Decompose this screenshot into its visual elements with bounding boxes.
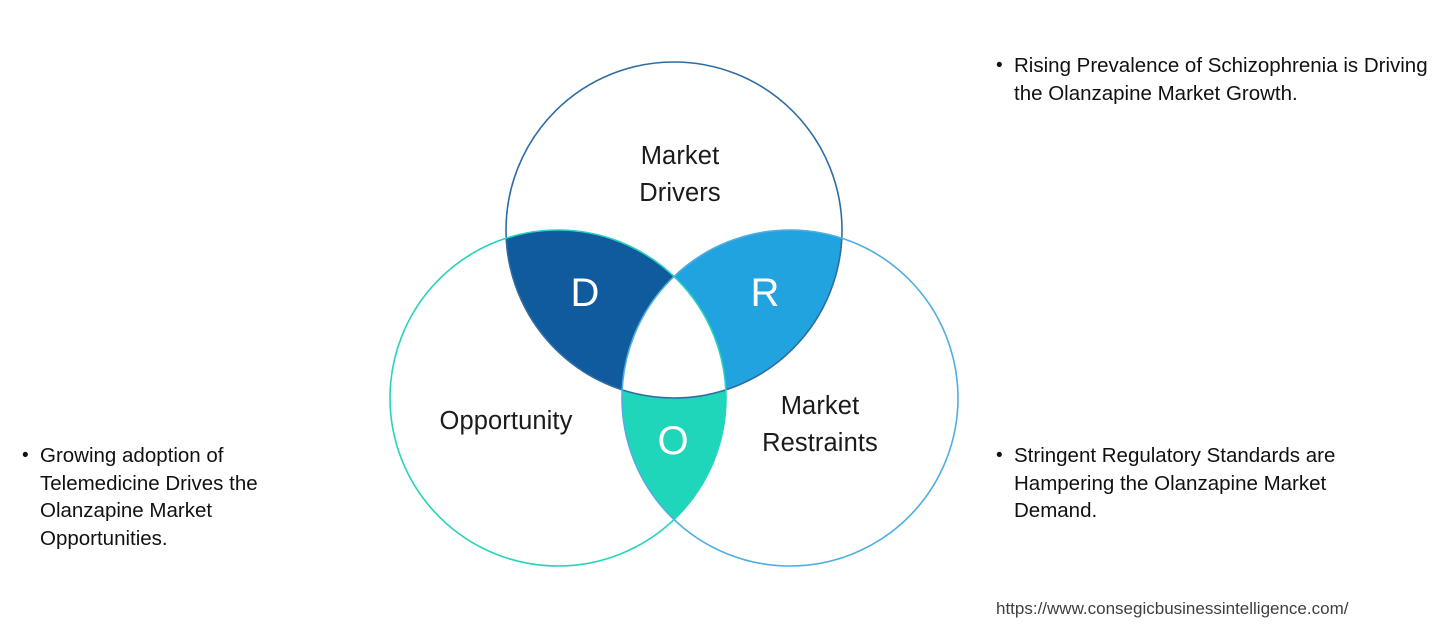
venn-svg (370, 40, 980, 600)
callout-market-drivers: • Rising Prevalence of Schizophrenia is … (996, 52, 1436, 107)
callout-market-restraints: • Stringent Regulatory Standards are Ham… (996, 442, 1406, 525)
source-url[interactable]: https://www.consegicbusinessintelligence… (996, 598, 1436, 620)
bullet-icon: • (996, 442, 1014, 470)
venn-lens-letter-d: D (545, 273, 625, 313)
callout-text: Rising Prevalence of Schizophrenia is Dr… (1014, 52, 1436, 107)
bullet-icon: • (996, 52, 1014, 80)
venn-lens-letter-o: O (633, 421, 713, 461)
callout-text: Stringent Regulatory Standards are Hampe… (1014, 442, 1406, 525)
venn-label-market-restraints: Market Restraints (700, 388, 940, 462)
callout-opportunity: • Growing adoption of Telemedicine Drive… (22, 442, 322, 552)
dro-venn-diagram (370, 40, 980, 600)
venn-label-market-drivers: Market Drivers (560, 138, 800, 212)
callout-text: Growing adoption of Telemedicine Drives … (40, 442, 322, 552)
slide-canvas: Market Drivers Opportunity Market Restra… (0, 0, 1453, 643)
venn-lens-letter-r: R (725, 273, 805, 313)
venn-label-opportunity: Opportunity (396, 403, 616, 440)
bullet-icon: • (22, 442, 40, 470)
